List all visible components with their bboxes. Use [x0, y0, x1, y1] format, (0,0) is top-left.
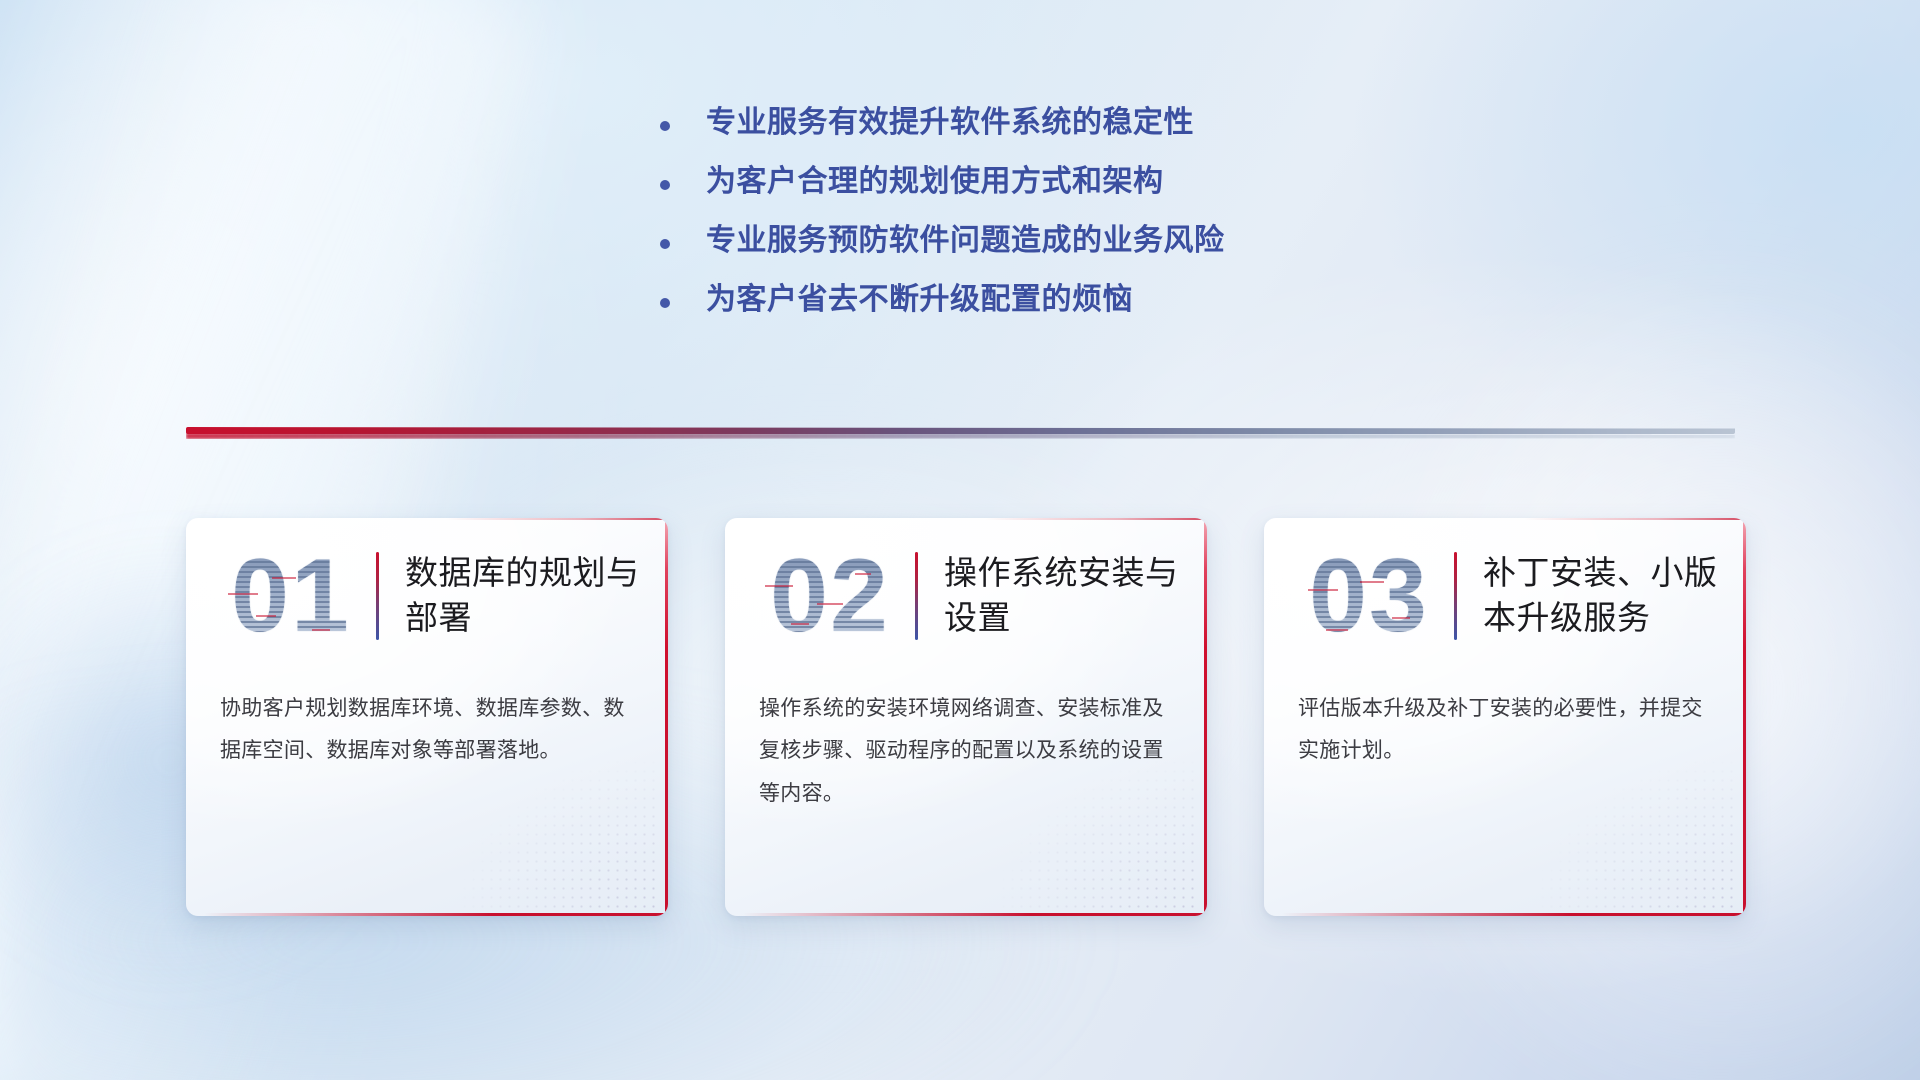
card-accent-bottom — [1282, 913, 1746, 916]
card-title: 操作系统安装与设置 — [944, 551, 1207, 640]
bullet-list: 专业服务有效提升软件系统的稳定性 为客户合理的规划使用方式和架构 专业服务预防软… — [660, 108, 1480, 344]
title-separator-bar — [1454, 552, 1457, 640]
bullet-dot-icon — [660, 180, 670, 190]
card-row: 01 数据库的规划与部署 协助客户规划数据库环境、数据库参数、数据库空间、数据库… — [186, 518, 1746, 916]
card-03[interactable]: 03 补丁安装、小版本升级服务 评估版本升级及补丁安装的必要性，并提交实施计划。 — [1264, 518, 1746, 916]
bullet-item-label: 为客户合理的规划使用方式和架构 — [706, 167, 1164, 197]
bullet-item: 为客户合理的规划使用方式和架构 — [660, 167, 1480, 197]
card-title: 补丁安装、小版本升级服务 — [1483, 551, 1746, 640]
card-02[interactable]: 02 操作系统安装与设置 操作系统的安装环境网络调查、安装标准及复核步骤、驱动程… — [725, 518, 1207, 916]
title-separator-bar — [376, 552, 379, 640]
card-number-watermark: 02 — [751, 537, 909, 655]
slide-canvas: 专业服务有效提升软件系统的稳定性 为客户合理的规划使用方式和架构 专业服务预防软… — [0, 0, 1920, 1080]
title-separator-bar — [915, 552, 918, 640]
card-number-label: 03 — [1309, 544, 1429, 648]
card-number-label: 01 — [231, 544, 351, 648]
bullet-dot-icon — [660, 298, 670, 308]
card-accent-bottom — [743, 913, 1207, 916]
bullet-item-label: 专业服务预防软件问题造成的业务风险 — [706, 226, 1225, 256]
card-number-watermark: 03 — [1290, 537, 1448, 655]
divider-bar-top — [186, 427, 1735, 434]
card-body-text: 协助客户规划数据库环境、数据库参数、数据库空间、数据库对象等部署落地。 — [186, 674, 668, 773]
dot-texture-decoration — [460, 758, 660, 908]
bullet-item-label: 为客户省去不断升级配置的烦恼 — [706, 285, 1133, 315]
card-01[interactable]: 01 数据库的规划与部署 协助客户规划数据库环境、数据库参数、数据库空间、数据库… — [186, 518, 668, 916]
card-body-text: 评估版本升级及补丁安装的必要性，并提交实施计划。 — [1264, 674, 1746, 773]
card-number-label: 02 — [770, 544, 890, 648]
bullet-dot-icon — [660, 239, 670, 249]
card-header: 03 补丁安装、小版本升级服务 — [1264, 518, 1746, 674]
bullet-item: 为客户省去不断升级配置的烦恼 — [660, 285, 1480, 315]
bullet-item: 专业服务预防软件问题造成的业务风险 — [660, 226, 1480, 256]
card-body-text: 操作系统的安装环境网络调查、安装标准及复核步骤、驱动程序的配置以及系统的设置等内… — [725, 674, 1207, 815]
gradient-divider-bar — [186, 427, 1735, 440]
bullet-item: 专业服务有效提升软件系统的稳定性 — [660, 108, 1480, 138]
card-header: 01 数据库的规划与部署 — [186, 518, 668, 674]
card-title: 数据库的规划与部署 — [405, 551, 668, 640]
card-number-watermark: 01 — [212, 537, 370, 655]
bullet-dot-icon — [660, 121, 670, 131]
bullet-item-label: 专业服务有效提升软件系统的稳定性 — [706, 108, 1194, 138]
card-accent-bottom — [204, 913, 668, 916]
card-header: 02 操作系统安装与设置 — [725, 518, 1207, 674]
dot-texture-decoration — [1538, 758, 1738, 908]
